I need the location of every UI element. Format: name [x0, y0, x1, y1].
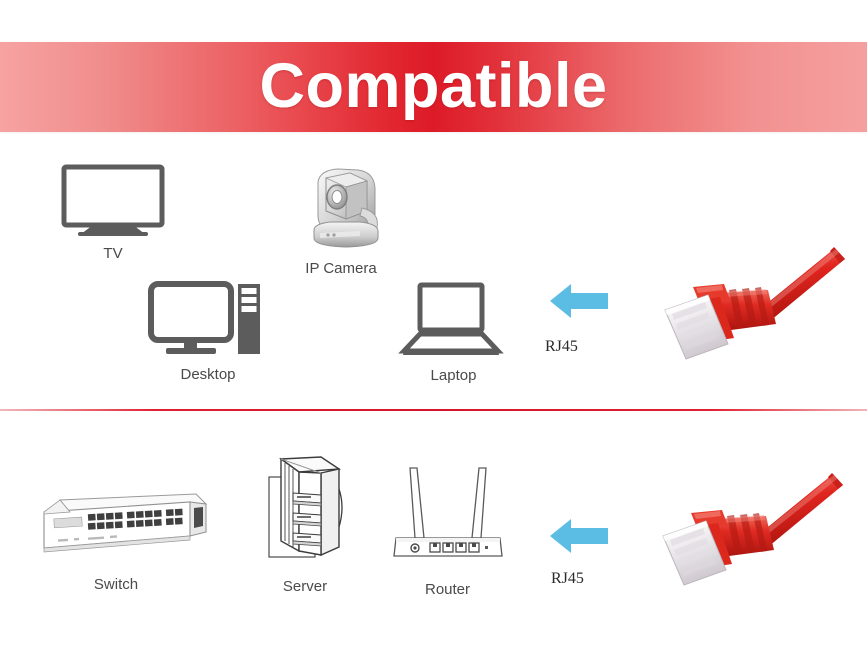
desktop-icon: [148, 280, 260, 362]
ip-camera-icon: [298, 162, 390, 262]
device-label-laptop: Laptop: [401, 367, 506, 384]
device-label-server: Server: [255, 578, 355, 595]
device-router: Router: [390, 460, 505, 600]
device-label-router: Router: [390, 581, 505, 598]
rj45-cable-bottom: [658, 458, 867, 593]
device-label-ip-camera: IP Camera: [281, 260, 401, 277]
connector-label-bottom: RJ45: [551, 570, 584, 588]
rj45-cable-icon: [658, 458, 867, 593]
arrow-left-icon: [548, 513, 610, 559]
device-laptop: Laptop: [403, 281, 508, 386]
section-divider: [0, 409, 867, 411]
rj45-cable-top: [660, 232, 867, 367]
rj45-cable-icon: [660, 232, 867, 367]
arrow-left-top: [548, 278, 610, 324]
tv-icon: [58, 163, 168, 238]
arrow-left-bottom: [548, 513, 610, 559]
arrow-left-icon: [548, 278, 610, 324]
device-ip-camera: IP Camera: [298, 162, 418, 287]
switch-icon: [40, 492, 210, 562]
laptop-icon: [403, 281, 503, 361]
device-server: Server: [263, 455, 363, 600]
page-title: Compatible: [0, 42, 867, 132]
device-label-desktop: Desktop: [153, 366, 263, 383]
header-banner: Compatible: [0, 42, 867, 132]
device-tv: TV: [58, 163, 178, 268]
device-desktop: Desktop: [148, 280, 268, 385]
device-label-switch: Switch: [26, 576, 206, 593]
device-label-tv: TV: [53, 245, 173, 262]
server-icon: [263, 455, 347, 565]
device-switch: Switch: [40, 492, 220, 602]
router-icon: [390, 460, 508, 565]
connector-label-top: RJ45: [545, 338, 578, 356]
